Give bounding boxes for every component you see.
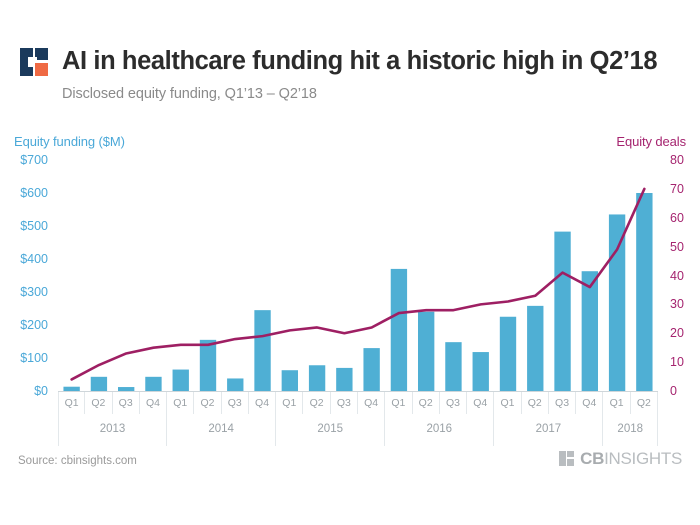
right-axis-tick: 0 xyxy=(670,385,677,398)
chart-header: AI in healthcare funding hit a historic … xyxy=(0,0,700,102)
left-axis-tick: $700 xyxy=(20,154,48,167)
right-axis-tick: 30 xyxy=(670,298,684,311)
bar xyxy=(527,306,543,391)
footer-wordmark-light: INSIGHTS xyxy=(604,449,682,468)
bar xyxy=(173,370,189,391)
bar xyxy=(582,271,598,391)
quarter-label: Q1 xyxy=(385,392,412,414)
left-axis-tick: $200 xyxy=(20,319,48,332)
year-label: 2016 xyxy=(385,414,494,446)
bar xyxy=(145,377,161,391)
cbinsights-logo-icon xyxy=(20,48,48,76)
quarter-label: Q1 xyxy=(603,392,630,414)
left-axis-tick: $100 xyxy=(20,352,48,365)
plot-region xyxy=(58,160,658,391)
quarter-label: Q2 xyxy=(85,392,112,414)
source-note: Source: cbinsights.com xyxy=(18,455,137,467)
x-axis: Q1Q2Q3Q4Q1Q2Q3Q4Q1Q2Q3Q4Q1Q2Q3Q4Q1Q2Q3Q4… xyxy=(58,391,658,449)
quarter-label: Q2 xyxy=(522,392,549,414)
chart-subtitle: Disclosed equity funding, Q1’13 – Q2’18 xyxy=(62,86,700,102)
year-label: 2018 xyxy=(603,414,658,446)
quarter-label: Q4 xyxy=(358,392,385,414)
bar xyxy=(254,310,270,391)
bar xyxy=(282,370,298,391)
bar xyxy=(554,232,570,391)
right-axis-tick: 60 xyxy=(670,212,684,225)
year-labels: 201320142015201620172018 xyxy=(58,414,658,446)
bar xyxy=(609,214,625,391)
left-axis-tick: $0 xyxy=(34,385,48,398)
footer-wordmark: CBINSIGHTS xyxy=(580,450,682,467)
bar xyxy=(500,317,516,391)
chart-area: $0$100$200$300$400$500$600$700 010203040… xyxy=(0,160,700,450)
quarter-label: Q3 xyxy=(549,392,576,414)
left-axis-caption: Equity funding ($M) xyxy=(14,134,125,149)
quarter-label: Q4 xyxy=(576,392,603,414)
left-axis-tick: $400 xyxy=(20,253,48,266)
year-label: 2015 xyxy=(276,414,385,446)
bar xyxy=(391,269,407,391)
bar xyxy=(445,342,461,391)
bar xyxy=(309,365,325,391)
quarter-label: Q4 xyxy=(140,392,167,414)
quarter-label: Q1 xyxy=(58,392,85,414)
bar xyxy=(363,348,379,391)
left-axis-tick: $600 xyxy=(20,187,48,200)
footer-logo: CBINSIGHTS xyxy=(559,450,682,467)
bar xyxy=(227,378,243,391)
left-axis-ticks: $0$100$200$300$400$500$600$700 xyxy=(0,160,58,391)
chart-canvas xyxy=(58,160,658,391)
right-axis-ticks: 01020304050607080 xyxy=(662,160,700,391)
right-axis-tick: 40 xyxy=(670,269,684,282)
left-axis-tick: $500 xyxy=(20,220,48,233)
page-title: AI in healthcare funding hit a historic … xyxy=(62,49,657,75)
bar xyxy=(636,193,652,391)
quarter-label: Q2 xyxy=(413,392,440,414)
right-axis-tick: 80 xyxy=(670,154,684,167)
bar xyxy=(418,312,434,391)
quarter-label: Q3 xyxy=(440,392,467,414)
quarter-labels: Q1Q2Q3Q4Q1Q2Q3Q4Q1Q2Q3Q4Q1Q2Q3Q4Q1Q2Q3Q4… xyxy=(58,392,658,414)
quarter-label: Q1 xyxy=(276,392,303,414)
right-axis-tick: 10 xyxy=(670,356,684,369)
right-axis-tick: 20 xyxy=(670,327,684,340)
quarter-label: Q2 xyxy=(303,392,330,414)
right-axis-tick: 70 xyxy=(670,183,684,196)
quarter-label: Q3 xyxy=(113,392,140,414)
left-axis-tick: $300 xyxy=(20,286,48,299)
bar xyxy=(91,377,107,391)
title-row: AI in healthcare funding hit a historic … xyxy=(0,0,700,76)
bar xyxy=(200,340,216,391)
bar xyxy=(336,368,352,391)
quarter-label: Q3 xyxy=(222,392,249,414)
quarter-label: Q2 xyxy=(194,392,221,414)
bar xyxy=(473,352,489,391)
quarter-label: Q2 xyxy=(631,392,658,414)
quarter-label: Q1 xyxy=(494,392,521,414)
cbinsights-logo-icon xyxy=(559,451,574,466)
quarter-label: Q4 xyxy=(249,392,276,414)
year-label: 2013 xyxy=(58,414,167,446)
year-label: 2014 xyxy=(167,414,276,446)
year-label: 2017 xyxy=(494,414,603,446)
quarter-label: Q4 xyxy=(467,392,494,414)
footer-wordmark-bold: CB xyxy=(580,449,604,468)
right-axis-caption: Equity deals xyxy=(616,134,686,149)
right-axis-tick: 50 xyxy=(670,240,684,253)
quarter-label: Q1 xyxy=(167,392,194,414)
quarter-label: Q3 xyxy=(331,392,358,414)
